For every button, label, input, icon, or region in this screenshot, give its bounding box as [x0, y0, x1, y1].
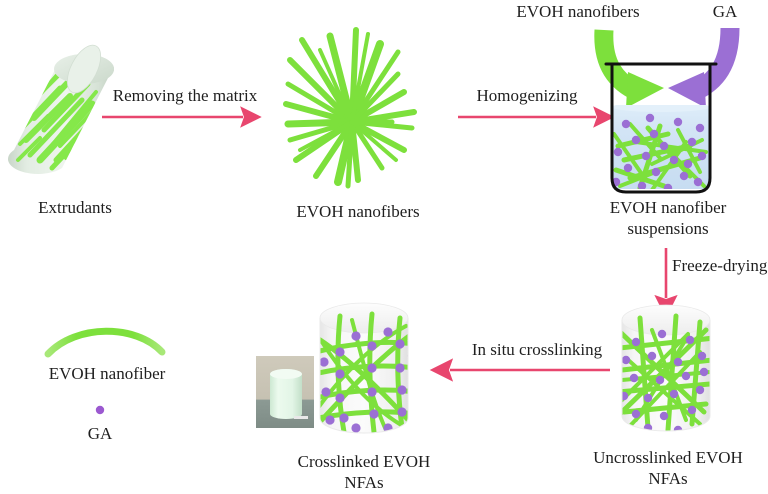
uncrosslinked-cylinder-top: [622, 305, 710, 335]
label-input-ga: GA: [700, 2, 750, 22]
legend-ga-dot-icon: [96, 406, 104, 414]
diagram-graphics: [0, 0, 768, 494]
crosslinked-nfa-icon: [314, 303, 417, 433]
label-homogenizing: Homogenizing: [452, 86, 602, 106]
extrudants-icon: [8, 40, 114, 174]
inset-photo-aerogel-top: [270, 369, 302, 379]
label-uncrosslinked-line2: NFAs: [578, 469, 758, 489]
label-in-situ-crosslinking: In situ crosslinking: [452, 340, 622, 360]
label-suspensions-line2: suspensions: [586, 219, 750, 239]
crosslinked-inset-photo: [256, 356, 314, 428]
legend-label-ga: GA: [62, 424, 138, 444]
label-crosslinked-line1: Crosslinked EVOH: [274, 452, 454, 472]
feed-arrow-ga-purple: [668, 28, 730, 108]
uncrosslinked-nfa-icon: [618, 305, 714, 434]
label-input-evoh-nanofibers: EVOH nanofibers: [498, 2, 658, 22]
label-removing-the-matrix: Removing the matrix: [90, 86, 280, 106]
feed-arrow-nanofibers-green: [600, 29, 664, 108]
label-uncrosslinked-line1: Uncrosslinked EVOH: [578, 448, 758, 468]
label-extrudants: Extrudants: [0, 198, 150, 218]
label-crosslinked-line2: NFAs: [274, 473, 454, 493]
label-suspensions-line1: EVOH nanofiber: [586, 198, 750, 218]
legend-fiber-arc-icon: [48, 331, 162, 354]
inset-photo-scalebar: [294, 416, 308, 419]
label-freeze-drying: Freeze-drying: [672, 256, 768, 276]
label-evoh-nanofibers: EVOH nanofibers: [278, 202, 438, 222]
diagram-canvas: Extrudants Removing the matrix EVOH nano…: [0, 0, 768, 494]
legend-label-fiber: EVOH nanofiber: [22, 364, 192, 384]
crosslinked-cylinder-top: [320, 303, 408, 333]
evoh-nanofibers-icon: [286, 30, 414, 186]
